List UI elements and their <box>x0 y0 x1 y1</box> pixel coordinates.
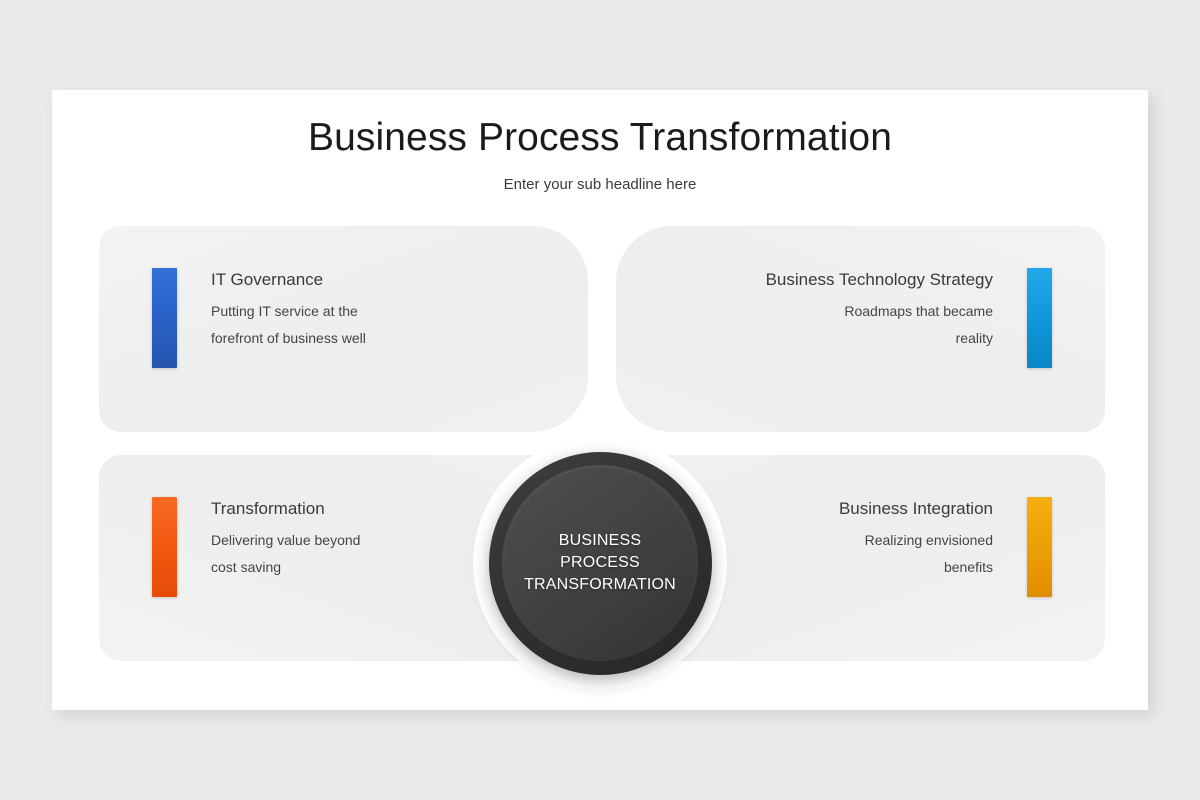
quadrant-inner: IT Governance Putting IT service at the … <box>152 268 366 368</box>
accent-bar-orange-icon <box>152 497 177 597</box>
quadrant-description: Delivering value beyond cost saving <box>211 527 360 581</box>
center-label-line-2: PROCESS <box>524 552 676 574</box>
quadrant-description-line-1: Realizing envisioned <box>865 532 993 548</box>
page-title: Business Process Transformation <box>52 116 1148 161</box>
quadrant-description-line-1: Putting IT service at the <box>211 303 358 319</box>
quadrant-heading: IT Governance <box>211 270 366 290</box>
quadrant-description: Putting IT service at the forefront of b… <box>211 298 366 352</box>
slide-canvas: Business Process Transformation Enter yo… <box>52 90 1148 710</box>
page-subtitle: Enter your sub headline here <box>52 176 1148 193</box>
quadrant-text-block: Business Integration Realizing envisione… <box>839 497 993 581</box>
quadrant-description-line-1: Roadmaps that became <box>844 303 993 319</box>
quadrant-description-line-2: benefits <box>944 559 993 575</box>
quadrant-text-block: Business Technology Strategy Roadmaps th… <box>766 268 993 352</box>
quadrant-description-line-1: Delivering value beyond <box>211 532 360 548</box>
quadrant-card-business-technology-strategy[interactable]: Business Technology Strategy Roadmaps th… <box>616 226 1105 432</box>
center-label-line-3: TRANSFORMATION <box>524 574 676 596</box>
quadrant-description-line-2: cost saving <box>211 559 281 575</box>
center-ring: BUSINESS PROCESS TRANSFORMATION <box>489 452 712 675</box>
quadrant-text-block: Transformation Delivering value beyond c… <box>211 497 360 581</box>
quadrant-inner: Business Technology Strategy Roadmaps th… <box>766 268 1052 368</box>
quadrant-description: Realizing envisioned benefits <box>839 527 993 581</box>
quadrant-description-line-2: forefront of business well <box>211 330 366 346</box>
quadrant-description: Roadmaps that became reality <box>766 298 993 352</box>
accent-bar-cyan-icon <box>1027 268 1052 368</box>
slide-header: Business Process Transformation Enter yo… <box>52 90 1148 193</box>
center-label: BUSINESS PROCESS TRANSFORMATION <box>524 530 676 596</box>
quadrant-card-it-governance[interactable]: IT Governance Putting IT service at the … <box>99 226 588 432</box>
center-label-line-1: BUSINESS <box>524 530 676 552</box>
quadrant-heading: Business Technology Strategy <box>766 270 993 290</box>
accent-bar-blue-icon <box>152 268 177 368</box>
center-hub[interactable]: BUSINESS PROCESS TRANSFORMATION <box>480 443 720 683</box>
quadrant-heading: Business Integration <box>839 499 993 519</box>
quadrant-text-block: IT Governance Putting IT service at the … <box>211 268 366 352</box>
quadrant-heading: Transformation <box>211 499 360 519</box>
center-disc: BUSINESS PROCESS TRANSFORMATION <box>502 465 698 661</box>
quadrant-inner: Business Integration Realizing envisione… <box>839 497 1052 597</box>
quadrant-description-line-2: reality <box>956 330 993 346</box>
quadrant-inner: Transformation Delivering value beyond c… <box>152 497 360 597</box>
accent-bar-gold-icon <box>1027 497 1052 597</box>
